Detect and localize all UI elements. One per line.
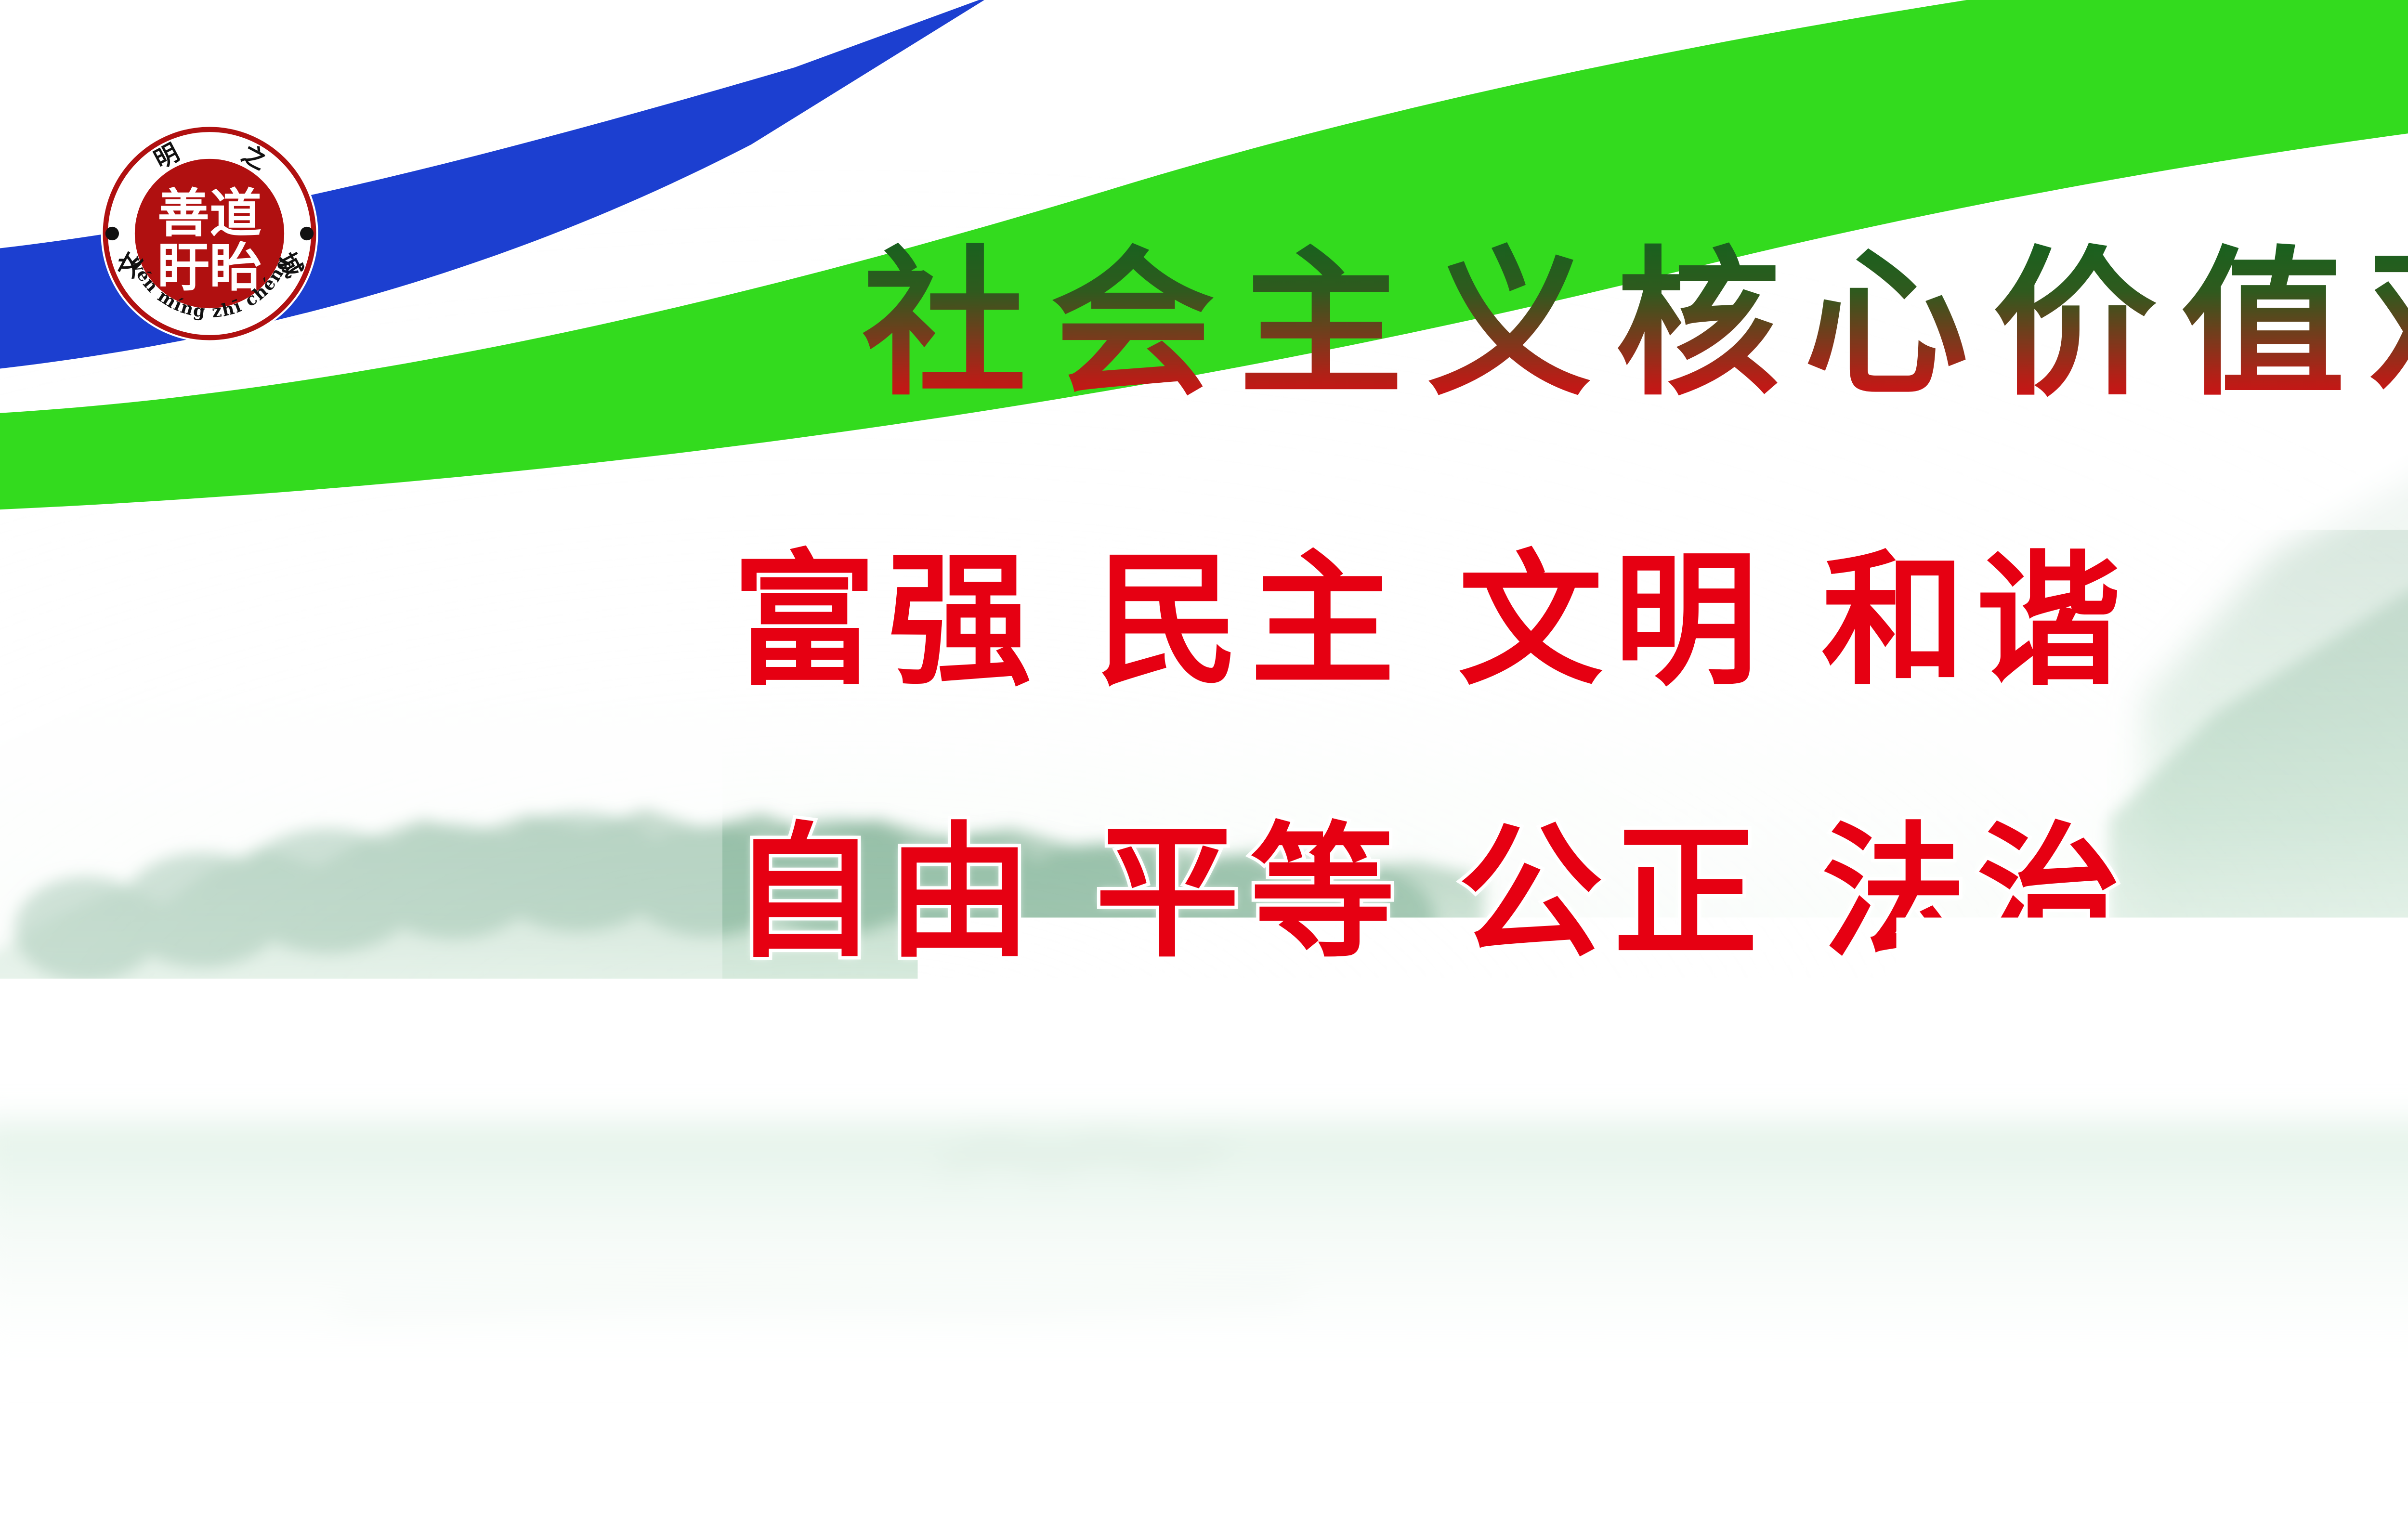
value-word: 民主	[1095, 549, 1405, 693]
banner-board: 文 明 之 城 善道 盱眙 wén míng zhī chéng	[0, 0, 2408, 1526]
value-word: 平等	[1095, 821, 1405, 965]
value-word: 自由	[732, 821, 1042, 965]
emblem-center-line2: 盱眙	[157, 238, 262, 298]
emblem-center-line1: 善道	[157, 183, 262, 244]
emblem-dot-right	[300, 227, 314, 240]
value-line-3: 爱国 敬业 诚信 友善	[732, 1071, 2408, 1254]
value-word: 诚信	[1458, 1091, 1768, 1235]
emblem-dot-left	[105, 227, 119, 240]
value-word: 富强	[732, 549, 1042, 693]
city-emblem: 文 明 之 城 善道 盱眙 wén míng zhī chéng	[96, 120, 323, 347]
value-line-1: 富强 民主 文明 和谐	[732, 530, 2408, 713]
value-word: 法治	[1821, 821, 2132, 965]
value-line-2: 自由 平等 公正 法治	[732, 802, 2408, 985]
value-word: 爱国	[732, 1091, 1042, 1235]
value-word: 文明	[1458, 549, 1768, 693]
value-word: 和谐	[1821, 549, 2132, 693]
value-word: 公正	[1458, 821, 1768, 965]
value-word: 敬业	[1095, 1091, 1405, 1235]
value-word: 友善	[1821, 1091, 2132, 1235]
page-title-text: 社会主义核心价值观	[862, 232, 2408, 409]
page-title: 社会主义核心价值观	[862, 226, 2408, 409]
